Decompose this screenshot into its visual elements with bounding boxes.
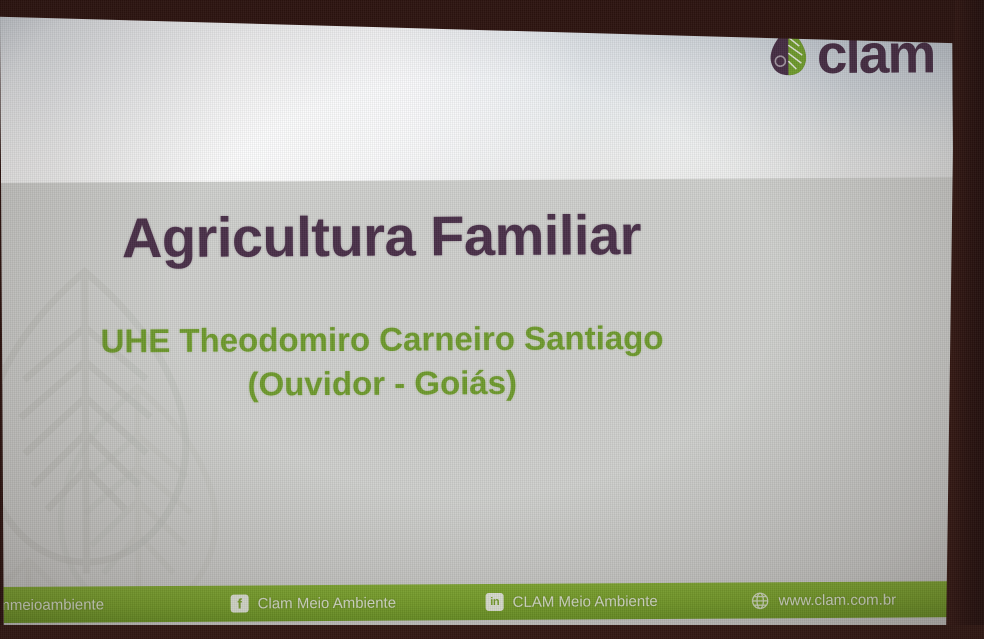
footer-instagram-label: lammeioambiente <box>4 596 105 614</box>
footer-item-website[interactable]: www.clam.com.br <box>751 590 897 610</box>
slide-subtitle-line2: (Ouvidor - Goiás) <box>2 359 762 407</box>
clam-wordmark: clam <box>817 26 935 82</box>
footer-facebook-label: Clam Meio Ambiente <box>258 594 397 612</box>
footer-website-label: www.clam.com.br <box>779 591 897 609</box>
footer-item-linkedin[interactable]: in CLAM Meio Ambiente <box>486 591 751 611</box>
globe-icon <box>751 591 770 610</box>
slide-subtitle-line1: UHE Theodomiro Carneiro Santiago <box>2 315 762 363</box>
presentation-slide: clam Agricultura Familiar UHE Theodomiro… <box>0 2 956 639</box>
facebook-icon: f <box>231 594 249 612</box>
footer-item-instagram[interactable]: lammeioambiente <box>4 595 231 613</box>
slide-subtitle: UHE Theodomiro Carneiro Santiago (Ouvido… <box>2 315 763 407</box>
footer-linkedin-label: CLAM Meio Ambiente <box>513 592 658 610</box>
slide-title: Agricultura Familiar <box>1 201 761 271</box>
footer-item-facebook[interactable]: f Clam Meio Ambiente <box>231 593 486 613</box>
clam-leaf-droplet-logo-icon <box>765 25 811 84</box>
projected-slide-photo: clam Agricultura Familiar UHE Theodomiro… <box>0 0 984 639</box>
slide-footer: lammeioambiente f Clam Meio Ambiente in … <box>4 581 956 623</box>
linkedin-icon: in <box>486 593 504 611</box>
clam-logo: clam <box>765 24 935 84</box>
